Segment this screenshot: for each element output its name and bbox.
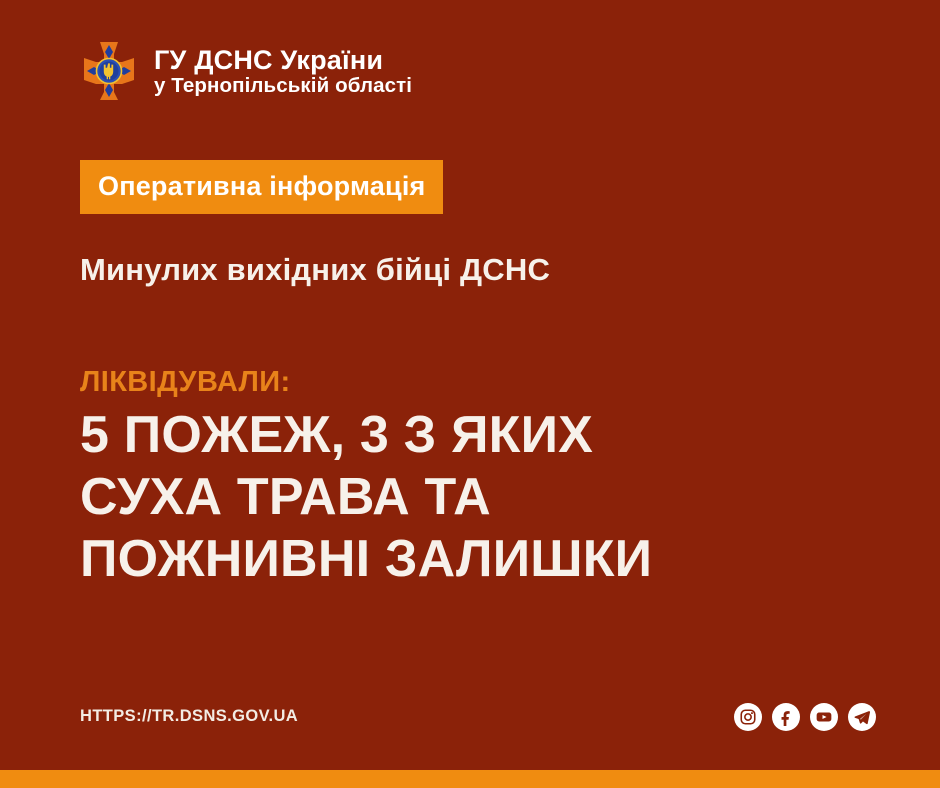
instagram-icon[interactable] [734,703,762,731]
youtube-icon[interactable] [810,703,838,731]
headline-block: ЛІКВІДУВАЛИ: 5 ПОЖЕЖ, 3 З ЯКИХ СУХА ТРАВ… [80,368,880,591]
page-title: 5 ПОЖЕЖ, 3 З ЯКИХ СУХА ТРАВА ТА ПОЖНИВНІ… [80,405,880,591]
headline-line-3: ПОЖНИВНІ ЗАЛИШКИ [80,529,880,591]
headline-line-1: 5 ПОЖЕЖ, 3 З ЯКИХ [80,405,880,467]
brand-name-line2: у Тернопільській області [154,75,412,96]
dsns-cross-emblem-icon [78,40,140,102]
telegram-icon[interactable] [848,703,876,731]
brand-header: ГУ ДСНС України у Тернопільській області [78,40,412,102]
brand-name-line1: ГУ ДСНС України [154,46,412,74]
bottom-accent-bar [0,770,940,788]
headline-line-2: СУХА ТРАВА ТА [80,467,880,529]
social-links [734,703,876,731]
website-url[interactable]: HTTPS://TR.DSNS.GOV.UA [80,707,298,726]
headline-kicker: ЛІКВІДУВАЛИ: [80,368,880,397]
status-badge: Оперативна інформація [80,160,443,214]
poster-canvas: ГУ ДСНС України у Тернопільській області… [0,0,940,788]
facebook-icon[interactable] [772,703,800,731]
brand-name: ГУ ДСНС України у Тернопільській області [154,46,412,96]
lead-text: Минулих вихідних бійці ДСНС [80,252,550,288]
